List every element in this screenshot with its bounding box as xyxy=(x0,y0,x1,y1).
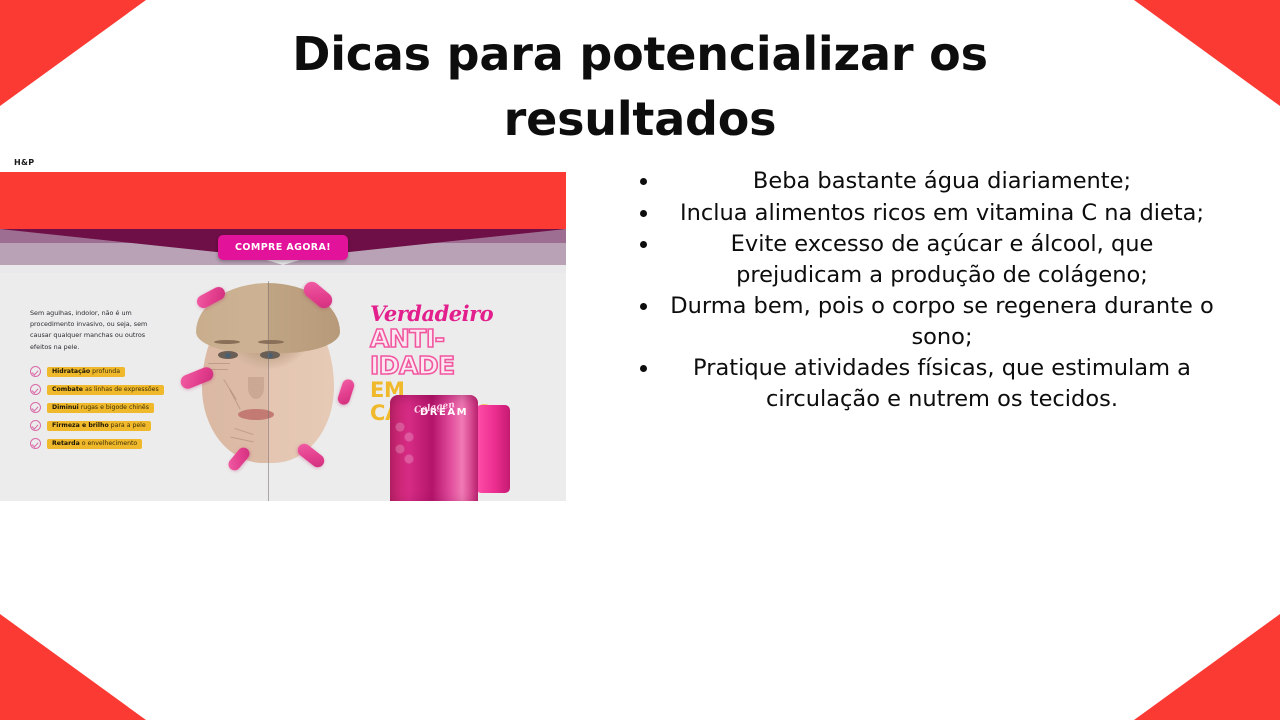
feature-bold: Retarda xyxy=(52,440,80,447)
check-circle-icon xyxy=(30,420,41,431)
corner-triangle-top-right xyxy=(1134,0,1280,106)
headline-line-1: Verdadeiro xyxy=(370,303,520,324)
check-circle-icon xyxy=(30,402,41,413)
list-item: Inclua alimentos ricos em vitamina C na … xyxy=(628,198,1214,229)
list-item: Durma bem, pois o corpo se regenera dura… xyxy=(628,291,1214,352)
eyebrow-left xyxy=(214,340,240,344)
bullet-dot-icon xyxy=(640,210,647,217)
bullet-dot-icon xyxy=(640,241,647,248)
tips-list: Beba bastante água diariamente; Inclua a… xyxy=(628,166,1214,415)
feature-bold: Combate xyxy=(52,386,83,393)
feature-row: Retarda o envelhecimento xyxy=(30,437,200,450)
ad-description-text: Sem agulhas, indolor, não é um procedime… xyxy=(30,308,162,353)
feature-pill: Firmeza e brilho para a pele xyxy=(47,421,151,431)
bullet-dot-icon xyxy=(640,365,647,372)
feature-bold: Hidratação xyxy=(52,368,90,375)
before-after-divider xyxy=(268,281,269,501)
feature-row: Diminui rugas e bigode chinês xyxy=(30,401,200,414)
bullet-dot-icon xyxy=(640,178,647,185)
tip-text: Evite excesso de açúcar e álcool, que pr… xyxy=(731,231,1154,288)
eye-left xyxy=(218,351,238,359)
feature-pill: Hidratação profunda xyxy=(47,367,125,377)
feature-bold: Diminui xyxy=(52,404,79,411)
feature-row: Hidratação profunda xyxy=(30,365,200,378)
headline-line-2: ANTI-IDADE xyxy=(370,326,520,379)
feature-rest: profunda xyxy=(90,368,120,375)
product-bottle: DREAM Colagen xyxy=(390,389,512,501)
check-circle-icon xyxy=(30,366,41,377)
feature-pill: Retarda o envelhecimento xyxy=(47,439,142,449)
tip-text: Pratique atividades físicas, que estimul… xyxy=(693,355,1191,412)
check-circle-icon xyxy=(30,438,41,449)
feature-rest: para a pele xyxy=(109,422,146,429)
before-after-face-photo xyxy=(182,281,354,501)
feature-row: Firmeza e brilho para a pele xyxy=(30,419,200,432)
ad-top-red-bar xyxy=(0,172,566,229)
brand-logo: H&P xyxy=(14,158,34,167)
corner-triangle-top-left xyxy=(0,0,146,106)
check-circle-icon xyxy=(30,384,41,395)
feature-row: Combate as linhas de expressões xyxy=(30,383,200,396)
corner-triangle-bottom-right xyxy=(1134,614,1280,720)
list-item: Pratique atividades físicas, que estimul… xyxy=(628,353,1214,414)
eyebrow-right xyxy=(258,340,284,344)
list-item: Beba bastante água diariamente; xyxy=(628,166,1214,197)
feature-pill: Combate as linhas de expressões xyxy=(47,385,164,395)
bullet-dot-icon xyxy=(640,303,647,310)
product-ad-image: H&P COMPRE AGORA! Sem agulhas, indolor, … xyxy=(0,151,566,501)
feature-rest: as linhas de expressões xyxy=(83,386,159,393)
slide: Dicas para potencializar os resultados B… xyxy=(0,0,1280,720)
page-title: Dicas para potencializar os resultados xyxy=(200,22,1080,153)
bottle-cap xyxy=(476,405,510,493)
feature-bold: Firmeza e brilho xyxy=(52,422,109,429)
corner-triangle-bottom-left xyxy=(0,614,146,720)
ad-content-area: Sem agulhas, indolor, não é um procedime… xyxy=(0,273,566,501)
bottle-pattern xyxy=(394,419,416,469)
tip-text: Beba bastante água diariamente; xyxy=(753,168,1131,194)
ad-feature-list: Hidratação profunda Combate as linhas de… xyxy=(30,365,200,455)
tip-text: Inclua alimentos ricos em vitamina C na … xyxy=(680,200,1204,226)
list-item: Evite excesso de açúcar e álcool, que pr… xyxy=(628,229,1214,290)
compre-agora-button[interactable]: COMPRE AGORA! xyxy=(218,235,348,260)
wrinkle xyxy=(208,363,230,364)
feature-rest: o envelhecimento xyxy=(80,440,137,447)
eye-right xyxy=(260,351,280,359)
tip-text: Durma bem, pois o corpo se regenera dura… xyxy=(670,293,1213,350)
feature-pill: Diminui rugas e bigode chinês xyxy=(47,403,154,413)
feature-rest: rugas e bigode chinês xyxy=(79,404,149,411)
nose xyxy=(248,377,264,399)
wrinkle xyxy=(210,369,228,370)
